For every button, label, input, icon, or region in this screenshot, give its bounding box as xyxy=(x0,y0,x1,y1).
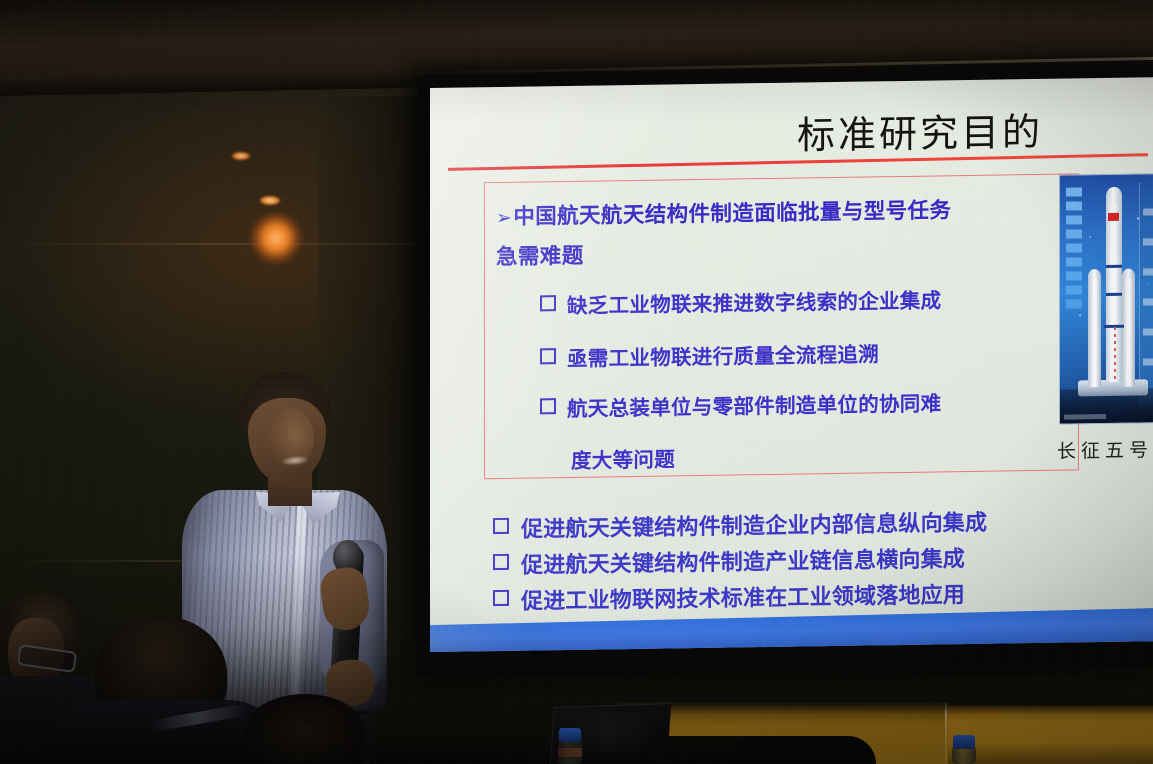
sub-bullet-1-text: 缺乏工业物联来推进数字线索的企业集成 xyxy=(567,283,941,319)
amber-panel-top-shadow xyxy=(618,700,1153,714)
sub-bullet-3-continuation: 度大等问题 xyxy=(571,442,675,474)
presentation-photo: 标准研究目的 ➢中国航天航天结构件制造面临批量与型号任务 急需难题 缺乏工业物联… xyxy=(0,0,1153,764)
arrow-bullet-icon: ➢ xyxy=(496,207,512,229)
lead-bullet-line-2: 急需难题 xyxy=(496,239,584,271)
vertical-chinese-caption-graphic xyxy=(1066,187,1082,312)
projected-slide: 标准研究目的 ➢中国航天航天结构件制造面临批量与型号任务 急需难题 缺乏工业物联… xyxy=(430,77,1153,652)
audience-member-3-head xyxy=(246,694,364,764)
bottom-bullet-3-text: 促进工业物联网技术标准在工业领域落地应用 xyxy=(521,577,965,616)
ceiling-spotlight-upper xyxy=(232,152,250,160)
sub-bullet-3: 航天总装单位与零部件制造单位的协同难 xyxy=(540,386,941,422)
audience-member-4-shape xyxy=(726,736,876,764)
square-bullet-icon xyxy=(493,518,509,534)
sub-bullet-3-text: 航天总装单位与零部件制造单位的协同难 xyxy=(567,386,941,422)
rocket-photo xyxy=(1059,173,1153,424)
bottle-cap-icon xyxy=(953,735,975,749)
rocket-booster-left xyxy=(1088,279,1101,387)
rocket-nose-cone xyxy=(1106,187,1122,205)
square-bullet-icon xyxy=(540,398,556,414)
photo-credit-mark xyxy=(1064,414,1106,420)
ceiling-spotlight-lamp xyxy=(260,196,280,205)
china-flag-icon xyxy=(1108,213,1119,221)
rocket-photo-caption: 长征五号 xyxy=(1057,435,1153,463)
wall-seam-upper xyxy=(0,243,430,245)
sub-bullet-2: 亟需工业物联进行质量全流程追溯 xyxy=(540,337,879,372)
bottom-bullet-1: 促进航天关键结构件制造企业内部信息纵向集成 xyxy=(493,505,987,544)
lead-bullet-text-1: 中国航天航天结构件制造面临批量与型号任务 xyxy=(513,198,951,229)
square-bullet-icon xyxy=(540,295,556,311)
rocket-band-2 xyxy=(1106,293,1122,296)
rocket-band-1 xyxy=(1106,265,1122,268)
square-bullet-icon xyxy=(493,554,509,570)
slide-title: 标准研究目的 xyxy=(730,100,1110,161)
photo-side-panel xyxy=(1139,182,1153,412)
square-bullet-icon xyxy=(540,348,556,364)
rocket-dotted-seam xyxy=(1114,327,1116,382)
bottom-bullet-3: 促进工业物联网技术标准在工业领域落地应用 xyxy=(493,577,965,616)
ceiling-spotlight-glow xyxy=(250,212,302,264)
square-bullet-icon xyxy=(493,590,509,606)
sub-bullet-1: 缺乏工业物联来推进数字线索的企业集成 xyxy=(540,283,941,319)
bottom-bullet-1-text: 促进航天关键结构件制造企业内部信息纵向集成 xyxy=(521,505,987,544)
bottom-bullet-2: 促进航天关键结构件制造产业链信息横向集成 xyxy=(493,541,965,580)
rocket-booster-right xyxy=(1122,279,1135,387)
water-bottle-label xyxy=(558,748,582,757)
bottle-cap-icon xyxy=(559,728,581,742)
bottom-bullet-2-text: 促进航天关键结构件制造产业链信息横向集成 xyxy=(521,541,965,580)
sub-bullet-2-text: 亟需工业物联进行质量全流程追溯 xyxy=(567,337,879,372)
